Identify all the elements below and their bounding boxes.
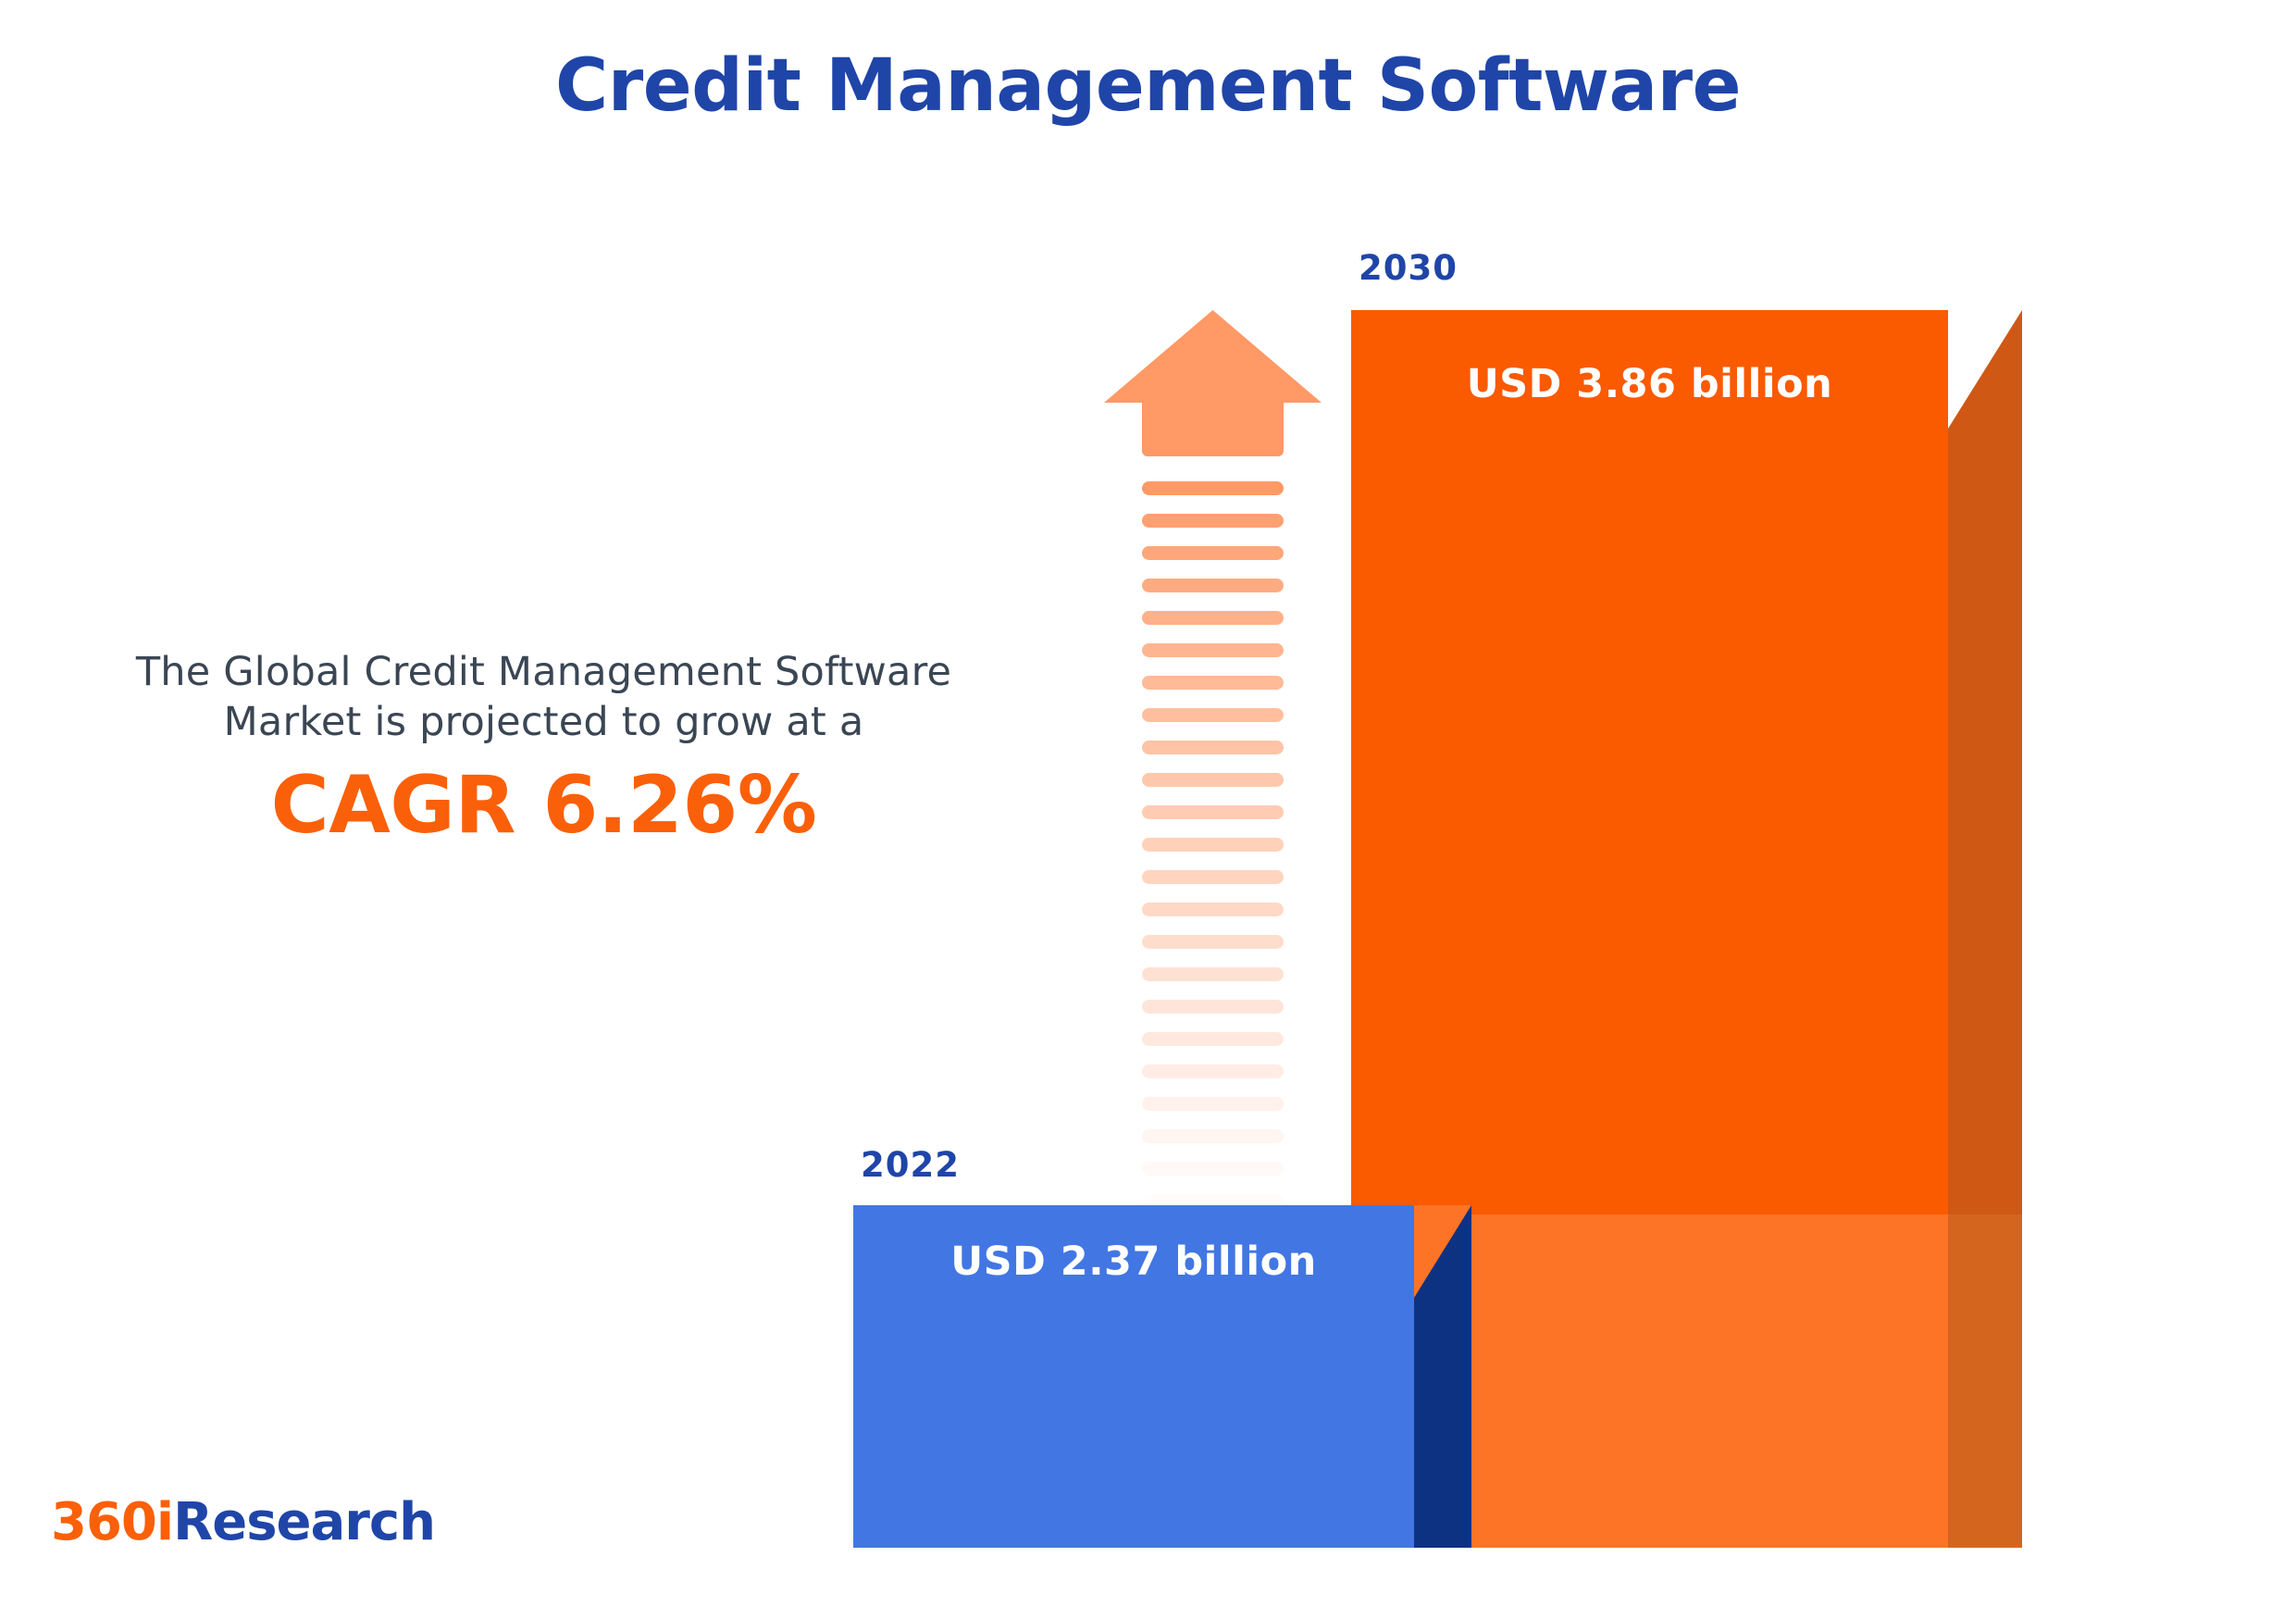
brand-logo-suffix: Research	[173, 1492, 435, 1552]
bar-2022-year-label: 2022	[861, 1145, 960, 1185]
bar-2030-top-bevel	[1948, 310, 2022, 429]
bar-chart: 2030 USD 3.86 billion 2022 USD 2.37 bill…	[0, 0, 2296, 1619]
brand-logo[interactable]: 360iResearch	[51, 1492, 435, 1552]
bar-2030-side-lower-face	[1948, 1214, 2022, 1548]
bar-2022-value-label: USD 2.37 billion	[853, 1239, 1414, 1285]
infographic-canvas: Credit Management Software The Global Cr…	[0, 0, 2296, 1619]
bar-2022-top-bevel	[1414, 1205, 1471, 1298]
brand-logo-prefix: 360i	[51, 1492, 173, 1552]
bar-2030-value-label: USD 3.86 billion	[1351, 361, 1948, 407]
bar-2030-front-face[interactable]	[1351, 310, 1948, 1214]
bar-2030-year-label: 2030	[1359, 248, 1458, 288]
